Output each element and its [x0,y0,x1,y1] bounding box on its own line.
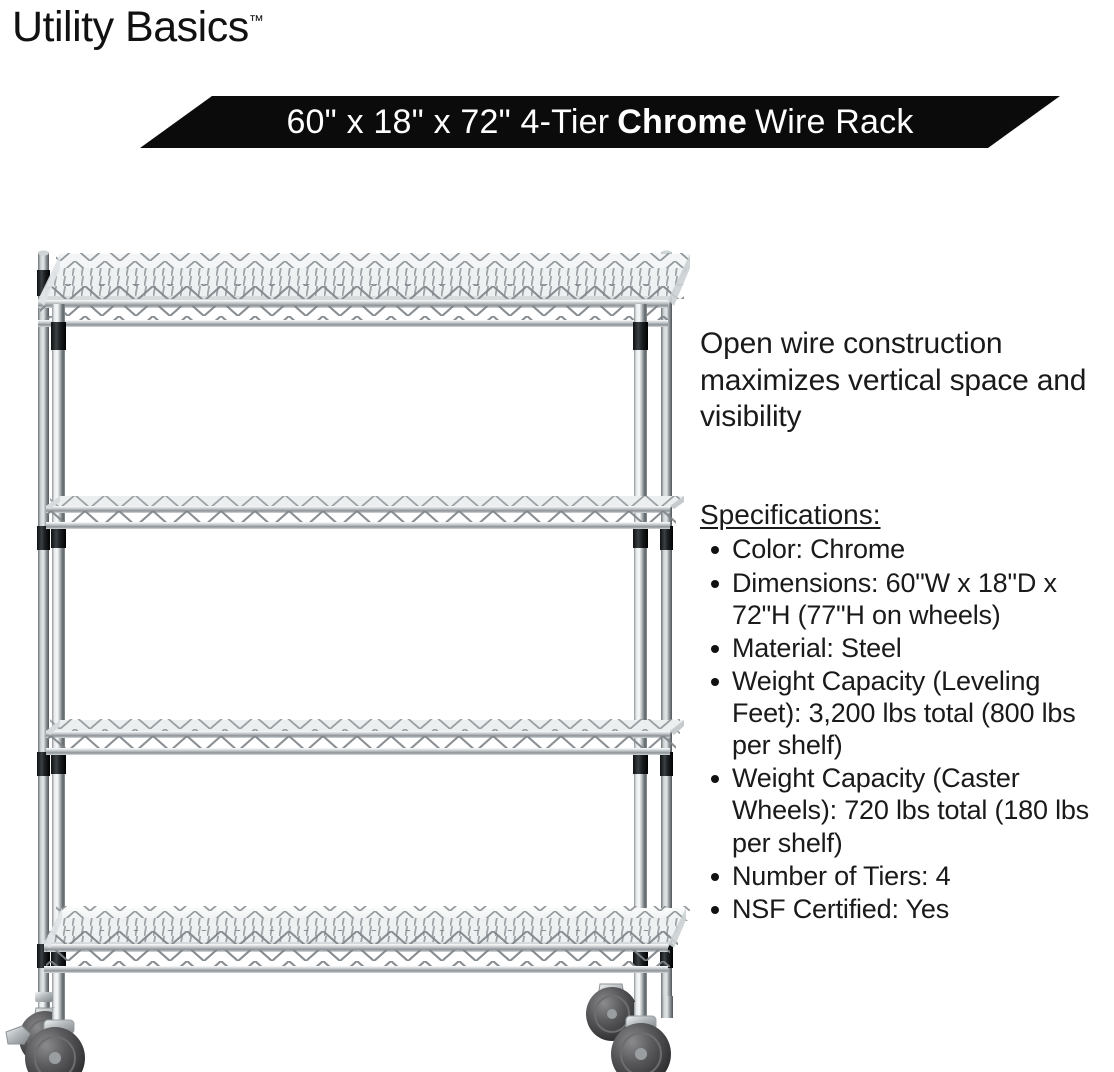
banner-prefix: 60" x 18" x 72" 4-Tier [286,105,609,139]
shelf-tier-2 [46,496,684,529]
banner-suffix: Wire Rack [755,105,914,139]
specifications-heading: Specifications: [700,498,1106,532]
list-item: NSF Certified: Yes [730,893,1106,925]
list-item: Weight Capacity (Caster Wheels): 720 lbs… [730,762,1106,858]
banner-emphasis: Chrome [617,105,747,139]
headline-text: Open wire construction maximizes vertica… [700,326,1106,436]
copy-column: Open wire construction maximizes vertica… [700,326,1106,926]
title-banner: 60" x 18" x 72" 4-Tier Chrome Wire Rack [140,96,1060,150]
banner-text: 60" x 18" x 72" 4-Tier Chrome Wire Rack [140,96,1060,148]
list-item: Material: Steel [730,632,1106,664]
list-item: Dimensions: 60"W x 18"D x 72"H (77"H on … [730,567,1106,631]
trademark-symbol: ™ [249,13,264,30]
shelf-tier-4 [44,906,690,973]
specifications-list: Color: Chrome Dimensions: 60"W x 18"D x … [700,533,1106,925]
brand-name: Utility Basics [12,3,249,51]
list-item: Weight Capacity (Leveling Feet): 3,200 l… [730,665,1106,761]
list-item: Number of Tiers: 4 [730,860,1106,892]
shelf-tier-1 [38,253,690,327]
infographic-page: Utility Basics™ 60" x 18" x 72" 4-Tier C… [0,0,1114,1072]
shelf-tier-3 [46,719,684,755]
product-image [0,196,700,1072]
list-item: Color: Chrome [730,533,1106,565]
brand-logo: Utility Basics™ [12,6,264,49]
wire-rack-illustration [0,196,700,1072]
rear-posts [37,250,673,1012]
